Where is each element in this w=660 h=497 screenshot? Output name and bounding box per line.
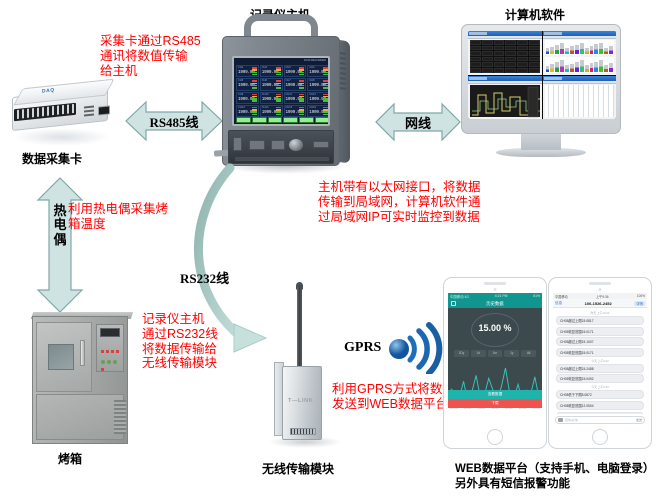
range-tab[interactable]: 1d <box>471 350 486 357</box>
sms-contact: 106-1526-2452 <box>585 301 612 306</box>
phone1-battery: 61% <box>533 294 540 298</box>
sms-date-divider: 昨天 上午10:24 <box>556 311 644 315</box>
annotation-web-platform: WEB数据平台（支持手机、电脑登录） 另外具有短信报警功能 <box>455 462 654 492</box>
phone-dashboard[interactable]: 中国移动 4G 4:21 PM 61% 历史数据 15.00 % 1Dy1d1m… <box>443 277 547 449</box>
gprs-label: GPRS <box>344 340 381 356</box>
wifi-signal-icon <box>386 322 448 374</box>
camera-icon[interactable] <box>558 418 563 422</box>
phone1-time: 4:21 PM <box>495 294 508 298</box>
sms-message-bubble[interactable]: CH08低于下限8.0872 <box>556 412 644 414</box>
phone2-nav-bar: 信息 106-1526-2452 详情 <box>553 299 647 308</box>
phone1-content: 15.00 % 1Dy1d1m1yAll 10:0012:0014:0016:0… <box>448 308 542 408</box>
phone2-time: 上午9:36 <box>596 294 609 298</box>
sms-detail-button[interactable]: 详情 <box>634 301 645 306</box>
phone-camera-icon <box>494 288 497 291</box>
sms-message-bubble[interactable]: CH05恢复范围15.0492 <box>556 374 644 383</box>
sms-message-bubble[interactable]: CH08低于下限8.0872 <box>556 390 644 399</box>
range-tab[interactable]: All <box>521 350 536 357</box>
back-icon[interactable] <box>451 301 456 306</box>
phone-speaker <box>484 282 506 285</box>
phone-sms[interactable]: 中国移动 上午9:36 100% 信息 106-1526-2452 详情 昨天 … <box>548 277 652 449</box>
phone1-nav-bar: 历史数据 <box>448 299 542 308</box>
sms-message-bubble[interactable]: CH08恢复范围12.0504 <box>556 401 644 410</box>
sms-message-bubble[interactable]: CH05超过上限15.0817 <box>556 316 644 325</box>
sms-date-divider: 今天 上午9:33 <box>556 385 644 389</box>
sms-date-divider: 今天 上午9:02 <box>556 359 644 363</box>
sms-message-list[interactable]: 昨天 上午10:24CH05超过上限15.0817CH05恢复范围15.0171… <box>553 308 647 414</box>
sms-input-bar[interactable]: 短信/彩信 发送 <box>555 416 645 424</box>
sms-back-button[interactable]: 信息 <box>555 301 562 306</box>
sms-message-bubble[interactable]: CH05超过上限15.1007 <box>556 337 644 346</box>
phone-camera-icon <box>599 288 602 291</box>
annotation-gprs: 利用GPRS方式将数据 发送到WEB数据平台 <box>332 382 455 412</box>
sms-message-bubble[interactable]: CH05恢复范围15.0171 <box>556 348 644 357</box>
view-data-button[interactable]: 查看数据 <box>448 390 542 399</box>
sms-input-placeholder[interactable]: 短信/彩信 <box>565 418 634 422</box>
phone1-value: 15.00 % <box>448 323 542 333</box>
phone-home-button[interactable] <box>487 429 503 445</box>
label-wireless-module: 无线传输模块 <box>262 462 334 477</box>
diagram-canvas: DAQ 数据采集卡 采集卡通过RS485 通讯将数值传输 给主机 RS485线 … <box>0 0 660 497</box>
sms-send-button[interactable]: 发送 <box>636 418 642 422</box>
sms-message-bubble[interactable]: CH05恢复范围15.0171 <box>556 327 644 336</box>
phone1-title: 历史数据 <box>486 301 503 307</box>
phone-speaker <box>589 282 611 285</box>
phone2-carrier: 中国移动 <box>555 294 568 298</box>
range-tab[interactable]: 1m <box>488 350 503 357</box>
range-tab[interactable]: 1y <box>504 350 519 357</box>
download-button[interactable]: 下载 <box>448 399 542 408</box>
phone2-battery: 100% <box>637 294 645 298</box>
sms-message-bubble[interactable]: CH05超过上限15.2488 <box>556 364 644 373</box>
range-tab-group[interactable]: 1Dy1d1m1yAll <box>454 350 536 357</box>
phone1-carrier: 中国移动 4G <box>450 294 469 298</box>
phone-home-button[interactable] <box>592 429 608 445</box>
range-tab[interactable]: 1Dy <box>454 350 469 357</box>
